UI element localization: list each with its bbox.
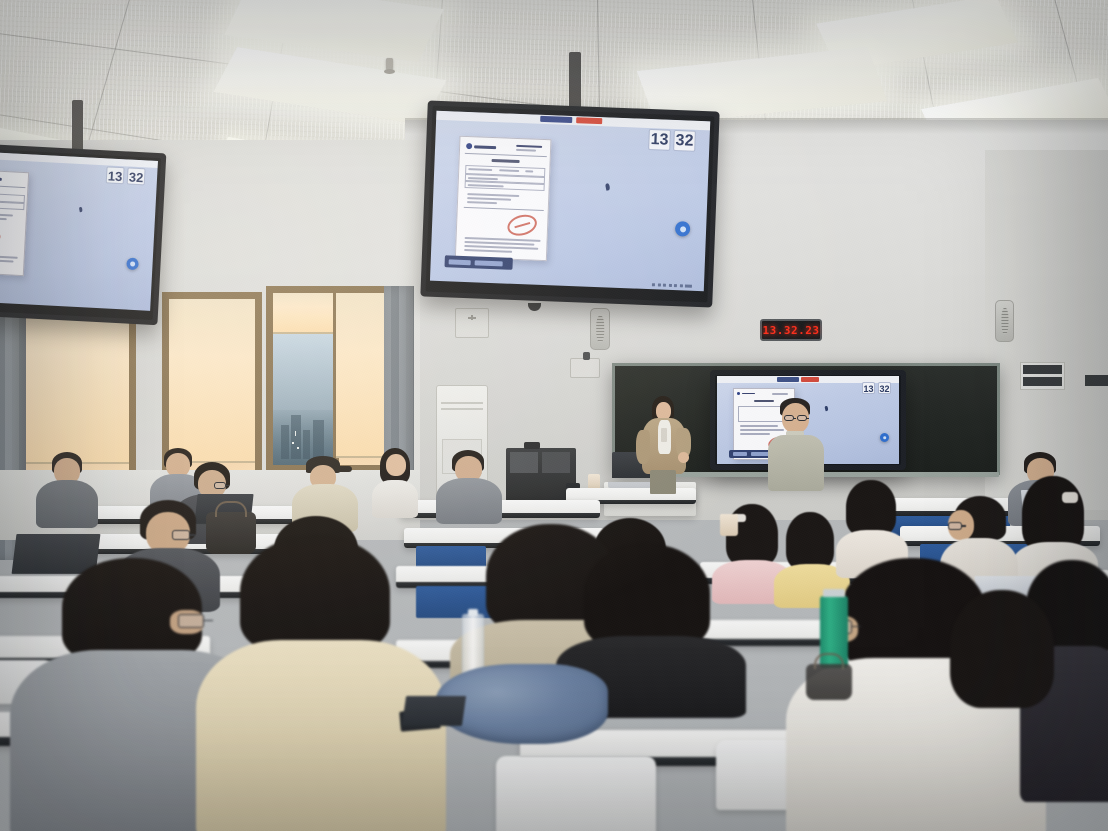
attendee-top: [436, 478, 502, 524]
mouse-cursor: [605, 183, 610, 191]
screen-clock-widget-left: 13 32: [106, 166, 146, 185]
attendee-top: [196, 640, 446, 831]
attendee-back-left-a: [34, 452, 100, 526]
document-action-buttons[interactable]: [444, 255, 512, 270]
glasses-icon-right: [797, 415, 807, 421]
presenter-man-shirt: [768, 435, 824, 491]
hanging-monitor-screen[interactable]: 13 32: [430, 111, 710, 291]
screen-clock-minutes: 32: [673, 130, 696, 152]
glasses-icon: [784, 415, 794, 421]
chat-fab-button-left[interactable]: [126, 258, 139, 271]
sprinkler-head: [386, 58, 393, 71]
led-clock-digits: 13.32.23: [763, 324, 820, 337]
wall-vent-panel: [1020, 362, 1065, 390]
wall-speaker-left: [590, 308, 610, 350]
wall-access-panel: [455, 308, 489, 338]
displayed-document: [455, 136, 552, 261]
ceiling-hung-monitor-left[interactable]: 13 32: [0, 143, 166, 325]
hanging-monitor-left-screen[interactable]: 13 32: [0, 151, 158, 311]
smart-board-clock-minutes: 32: [878, 382, 891, 394]
document-red-seal: [505, 211, 539, 238]
attendee-fg-right-edge: [944, 590, 1074, 740]
document-heading: [492, 159, 520, 163]
attendee-fg-cream-shirt: [196, 536, 446, 831]
laptop-on-desk-front[interactable]: [402, 696, 466, 726]
presenter-man: [764, 398, 826, 490]
document-university-logo: [466, 143, 496, 150]
displayed-document-left: [0, 168, 29, 276]
smart-board-chat-fab[interactable]: [880, 433, 889, 442]
attendee-white-top: [370, 448, 420, 516]
attendee-back-right-gray: [436, 450, 502, 522]
presenter-woman-skirt: [650, 470, 676, 494]
screen-clock-hours-left: 13: [106, 166, 125, 184]
coffee-cup: [720, 514, 738, 536]
wall-led-clock: 13.32.23: [760, 319, 822, 341]
presenter-woman: [636, 396, 692, 492]
screen-clock-minutes-left: 32: [127, 167, 146, 185]
wall-bracket-mount: [570, 358, 600, 378]
browser-tab-active[interactable]: [540, 116, 572, 123]
button-secondary[interactable]: [475, 260, 503, 266]
wall-speaker-right: [995, 300, 1014, 342]
presenter-woman-lanyard: [661, 428, 667, 442]
hair-clip-icon: [1062, 492, 1078, 503]
browser-tab-alert[interactable]: [576, 117, 602, 124]
wall-vent-panel-right: [1085, 375, 1108, 386]
chat-fab-button[interactable]: [675, 221, 691, 237]
monitor-ceiling-mount-center: [569, 52, 581, 114]
bag-under-desk: [806, 664, 852, 700]
smart-board-clock: 13 32: [862, 382, 891, 394]
presenter-woman-arm-left: [636, 430, 650, 464]
taskbar-tray[interactable]: [652, 283, 692, 288]
attendee-top: [372, 480, 418, 518]
screen-clock-hours: 13: [648, 129, 671, 151]
presenter-woman-hand: [678, 452, 689, 463]
ceiling-hung-monitor-center[interactable]: 13 32: [420, 100, 719, 307]
chair-front-center: [496, 756, 656, 831]
smart-board-clock-hours: 13: [862, 382, 875, 394]
attendee-top: [36, 480, 98, 528]
window-pane-outdoor-view: [273, 334, 333, 465]
window-open-view: [266, 286, 396, 472]
button-primary[interactable]: [449, 259, 471, 265]
screen-clock-widget: 13 32: [648, 129, 696, 152]
classroom-photo: 13 32 13.32.23: [0, 0, 1108, 831]
